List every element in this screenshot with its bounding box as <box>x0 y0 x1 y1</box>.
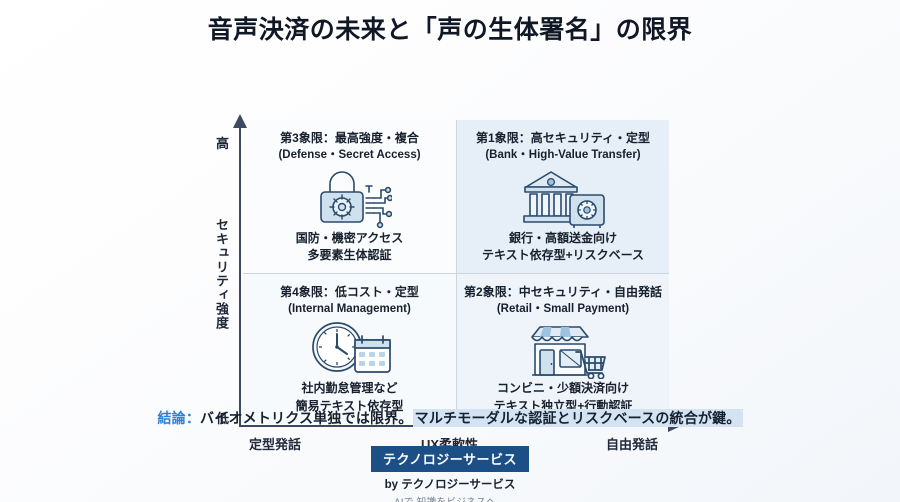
footer: テクノロジーサービス by テクノロジーサービス AIで 知識をビジネスへ。 <box>0 446 900 502</box>
quadrant-4-heading-en: (Internal Management) <box>280 301 419 318</box>
bank-vault-icon <box>457 164 669 230</box>
conclusion-text-highlight: マルチモーダルな認証とリスクベースの統合が鍵。 <box>413 409 743 427</box>
quadrant-1-heading: 第1象限：高セキュリティ・定型 (Bank・High-Value Transfe… <box>476 130 650 164</box>
conclusion-line: 結論：バイオメトリクス単独では限界。マルチモーダルな認証とリスクベースの統合が鍵… <box>0 408 900 428</box>
quadrant-1-description: 銀行・高額送金向け テキスト依存型+リスクベース <box>482 230 644 273</box>
quadrant-2-heading-en: (Retail・Small Payment) <box>464 301 662 318</box>
quadrant-3-desc-line2: 多要素生体認証 <box>296 247 403 264</box>
conclusion-text-plain: バイオメトリクス単独では限界。 <box>200 410 413 426</box>
quadrant-4[interactable]: 第4象限：低コスト・定型 (Internal Management) <box>243 273 456 423</box>
quadrant-3[interactable]: 第3象限：最高強度・複合 (Defense・Secret Access) <box>243 120 456 273</box>
padlock-gear-circuit-icon <box>243 164 456 230</box>
quadrant-grid: 第3象限：最高強度・複合 (Defense・Secret Access) <box>243 120 669 423</box>
quadrant-1-heading-jp: 第1象限：高セキュリティ・定型 <box>476 130 650 147</box>
conclusion-lead: 結論： <box>157 410 200 426</box>
quadrant-3-desc-line1: 国防・機密アクセス <box>296 230 403 247</box>
storefront-cart-icon <box>457 318 669 380</box>
quadrant-3-heading-en: (Defense・Secret Access) <box>278 147 420 164</box>
quadrant-4-desc-line1: 社内勤怠管理など <box>296 380 404 397</box>
quadrant-2-heading: 第2象限：中セキュリティ・自由発話 (Retail・Small Payment) <box>464 284 662 318</box>
quadrant-4-heading: 第4象限：低コスト・定型 (Internal Management) <box>280 284 419 318</box>
y-axis-title: セキュリティ強度 <box>215 218 228 330</box>
page-title: 音声決済の未来と「声の生体署名」の限界 <box>0 0 900 45</box>
brand-byline: by テクノロジーサービス <box>0 476 900 492</box>
brand-tagline: AIで 知識をビジネスへ。 <box>0 494 900 502</box>
quadrant-3-heading: 第3象限：最高強度・複合 (Defense・Secret Access) <box>278 130 420 164</box>
y-axis-high-label: 高 <box>216 133 229 152</box>
quadrant-1-heading-en: (Bank・High-Value Transfer) <box>476 147 650 164</box>
quadrant-2[interactable]: 第2象限：中セキュリティ・自由発話 (Retail・Small Payment) <box>456 273 669 423</box>
quadrant-2-desc-line1: コンビニ・少額決済向け <box>494 380 633 397</box>
quadrant-1[interactable]: 第1象限：高セキュリティ・定型 (Bank・High-Value Transfe… <box>456 120 669 273</box>
y-axis-line <box>239 126 241 426</box>
quadrant-1-desc-line2: テキスト依存型+リスクベース <box>482 247 644 264</box>
brand-badge: テクノロジーサービス <box>371 446 529 472</box>
clock-calendar-icon <box>243 318 456 380</box>
quadrant-4-heading-jp: 第4象限：低コスト・定型 <box>280 284 419 301</box>
quadrant-1-desc-line1: 銀行・高額送金向け <box>482 230 644 247</box>
quadrant-2-heading-jp: 第2象限：中セキュリティ・自由発話 <box>464 284 662 301</box>
quadrant-3-description: 国防・機密アクセス 多要素生体認証 <box>296 230 403 273</box>
y-axis-arrow-icon <box>233 114 247 128</box>
quadrant-matrix: 第3象限：最高強度・複合 (Defense・Secret Access) <box>0 58 900 398</box>
quadrant-3-heading-jp: 第3象限：最高強度・複合 <box>278 130 420 147</box>
